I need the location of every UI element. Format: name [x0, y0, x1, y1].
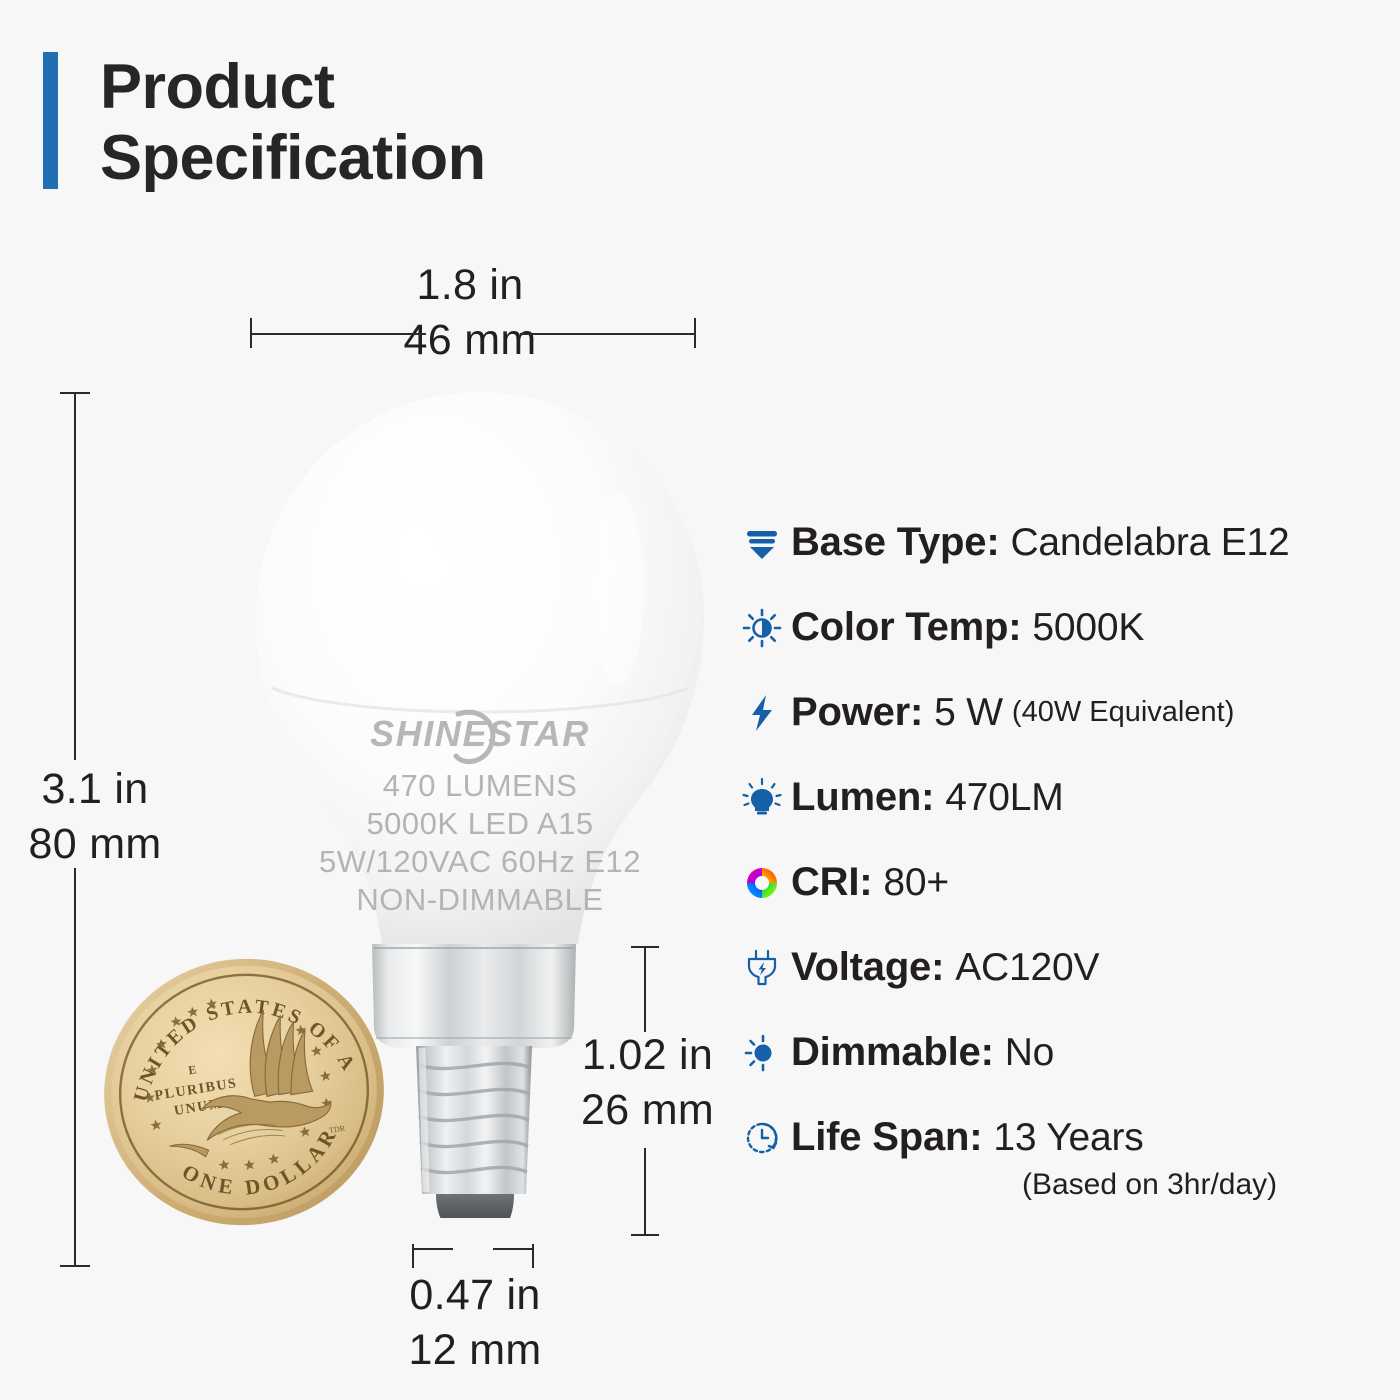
dimension-segment-base-left — [413, 1248, 453, 1250]
spec-row-cri: CRI: 80+ — [733, 840, 1393, 925]
bulb-base-icon — [733, 521, 791, 565]
spec-value-dimmable: No — [1005, 1031, 1054, 1075]
spec-value-base-type: Candelabra E12 — [1010, 521, 1289, 565]
us-dollar-coin-image: UNITED STATES OF AMERICA ONE DOLLAR E PL… — [100, 950, 388, 1235]
specification-list: Base Type: Candelabra E12 — [733, 500, 1393, 1202]
spec-row-power: Power: 5 W (40W Equivalent) — [733, 670, 1393, 755]
spec-label-voltage: Voltage: — [791, 945, 944, 990]
spec-row-lumen: Lumen: 470LM — [733, 755, 1393, 840]
bulb-collar — [372, 944, 576, 1048]
spec-note-power: (40W Equivalent) — [1012, 696, 1234, 729]
dimension-segment-base-right — [493, 1248, 533, 1250]
spec-label-dimmable: Dimmable: — [791, 1030, 994, 1075]
bulb-print-line1: 470 LUMENS — [383, 768, 578, 803]
dimension-cap-bottom — [60, 1265, 90, 1267]
product-specification-page: Product Specification 1.8 in 46 mm 3.1 i… — [0, 0, 1400, 1400]
color-wheel-icon — [733, 861, 791, 905]
dimension-label-width: 1.8 in 46 mm — [300, 258, 640, 368]
life-span-note: (Based on 3hr/day) — [1022, 1168, 1393, 1202]
power-plug-icon — [733, 946, 791, 990]
spec-value-power: 5 W — [934, 691, 1003, 735]
bulb-screw-highlight — [422, 1048, 426, 1192]
spec-label-power: Power: — [791, 690, 923, 735]
dimension-tick-right — [694, 318, 696, 348]
bulb-print-line3: 5W/120VAC 60Hz E12 — [319, 844, 641, 879]
spec-value-color-temp: 5000K — [1032, 606, 1144, 650]
spec-label-base-type: Base Type: — [791, 520, 999, 565]
dimension-line-base-diameter — [412, 1244, 534, 1268]
spec-value-cri: 80+ — [883, 861, 949, 905]
spec-label-life-span: Life Span: — [791, 1115, 982, 1160]
dimension-segment-right — [520, 333, 695, 335]
spec-label-color-temp: Color Temp: — [791, 605, 1021, 650]
bulb-contact-tip — [436, 1194, 514, 1218]
spec-value-voltage: AC120V — [955, 946, 1099, 990]
spec-row-base-type: Base Type: Candelabra E12 — [733, 500, 1393, 585]
spec-row-voltage: Voltage: AC120V — [733, 925, 1393, 1010]
light-bulb-icon — [733, 776, 791, 820]
dimension-label-base-diameter: 0.47 in 12 mm — [385, 1268, 565, 1378]
dimension-line-width — [250, 318, 696, 348]
spec-label-lumen: Lumen: — [791, 775, 934, 820]
sun-icon — [733, 1031, 791, 1075]
spec-label-cri: CRI: — [791, 860, 872, 905]
color-temp-icon — [733, 606, 791, 650]
dimension-label-height: 3.1 in 80 mm — [0, 762, 190, 872]
dimension-line-height-upper — [74, 392, 76, 760]
bulb-print-line4: NON-DIMMABLE — [356, 882, 603, 917]
dimension-segment-left — [251, 333, 426, 335]
bulb-brand-print: SHINESTAR — [370, 713, 590, 754]
spec-value-lumen: 470LM — [945, 776, 1063, 820]
spec-row-dimmable: Dimmable: No — [733, 1010, 1393, 1095]
title-accent-bar — [43, 52, 58, 189]
clock-icon — [733, 1116, 791, 1160]
dimension-tick-base-right — [532, 1244, 534, 1268]
spec-row-color-temp: Color Temp: 5000K — [733, 585, 1393, 670]
bulb-highlight-secondary — [592, 492, 644, 684]
bulb-print-line2: 5000K LED A15 — [366, 806, 593, 841]
page-title-block: Product Specification — [43, 52, 486, 194]
page-title: Product Specification — [100, 52, 486, 194]
dimension-line-height-lower — [74, 868, 76, 1267]
lightning-icon — [733, 691, 791, 735]
bulb-highlight — [330, 436, 502, 672]
spec-value-life-span: 13 Years — [993, 1116, 1143, 1160]
dimension-cap-base-bottom — [631, 1234, 659, 1236]
